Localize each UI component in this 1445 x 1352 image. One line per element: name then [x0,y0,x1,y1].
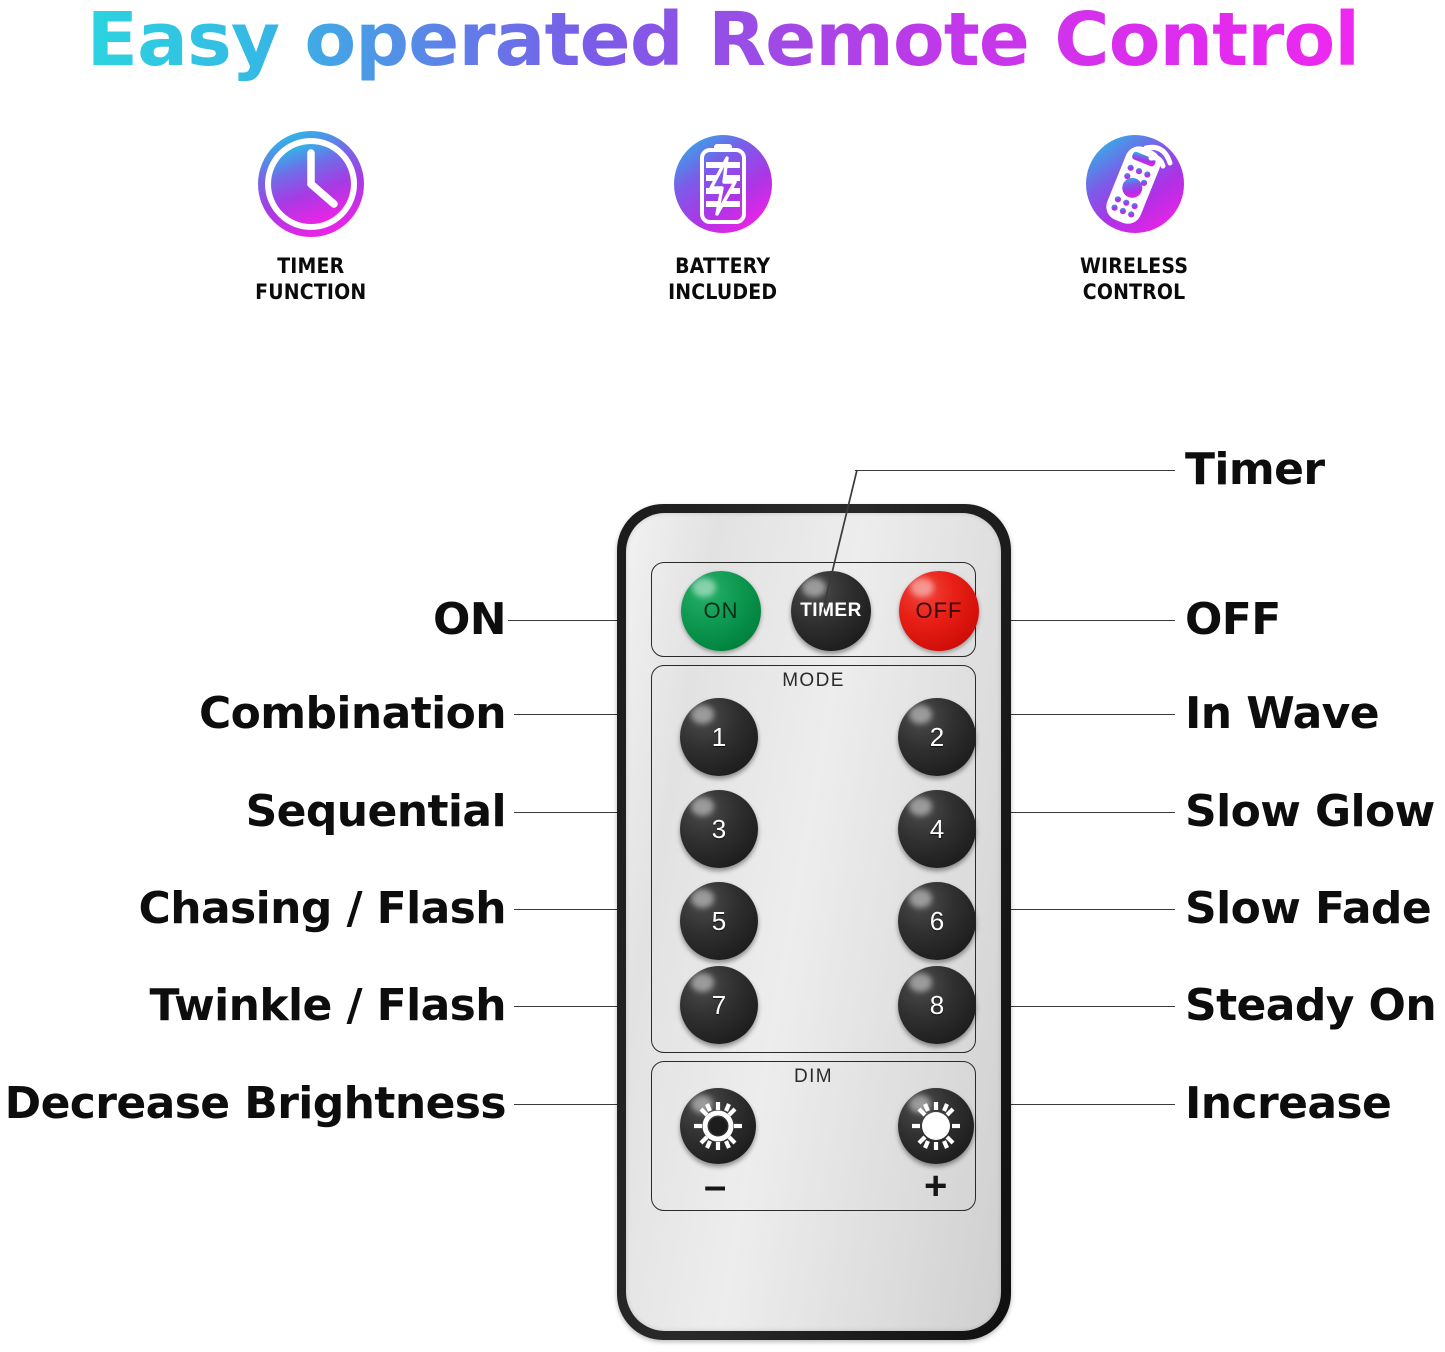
mode-button-6[interactable]: 6 [898,882,976,960]
mode-button-3[interactable]: 3 [680,790,758,868]
mode-button-7[interactable]: 7 [680,966,758,1044]
off-button[interactable]: OFF [899,571,979,651]
feature-label-line2: CONTROL [1083,280,1186,304]
decrease-brightness-button[interactable] [680,1088,756,1164]
feature-badges: TIMER FUNCTION [0,128,1445,318]
callout-in-wave: In Wave [1185,692,1379,736]
leader-line-timer-horizontal [855,470,1175,471]
feature-label-line2: INCLUDED [668,280,777,304]
callout-chasing-flash: Chasing / Flash [0,887,506,931]
callout-slow-glow: Slow Glow [1185,790,1435,834]
feature-label-line1: TIMER [277,254,344,278]
mode-panel-title: MODE [652,670,975,692]
mode-button-label: 1 [712,722,726,753]
leader-line-timer-diagonal [820,468,880,620]
dim-plus-sign: + [924,1166,947,1206]
increase-brightness-button[interactable] [898,1088,974,1164]
on-button-label: ON [704,598,739,624]
dim-panel-title: DIM [652,1066,975,1088]
remote-face: ON TIMER OFF MODE 1 2 3 4 5 6 [626,513,1001,1331]
callout-increase: Increase [1185,1082,1391,1126]
mode-button-2[interactable]: 2 [898,698,976,776]
title-bar: Easy operated Remote Control [0,0,1445,86]
on-button[interactable]: ON [681,571,761,651]
callout-twinkle-flash: Twinkle / Flash [0,984,506,1028]
clock-icon [255,128,367,240]
dim-minus-sign: – [704,1166,726,1206]
mode-button-5[interactable]: 5 [680,882,758,960]
mode-button-label: 7 [712,990,726,1021]
mode-button-label: 2 [930,722,944,753]
sun-bright-icon [909,1099,963,1153]
mode-button-4[interactable]: 4 [898,790,976,868]
callout-off: OFF [1185,598,1281,642]
mode-button-label: 4 [930,814,944,845]
power-panel: ON TIMER OFF [651,562,976,657]
sun-dim-icon [691,1099,745,1153]
battery-charging-icon [667,128,779,240]
page-title: Easy operated Remote Control [86,0,1359,83]
callout-combination: Combination [0,692,506,736]
feature-battery-included: BATTERY INCLUDED [608,128,838,305]
remote-signal-icon [1079,128,1191,240]
mode-button-1[interactable]: 1 [680,698,758,776]
feature-label-line1: BATTERY [675,254,770,278]
callout-timer: Timer [1185,448,1325,492]
feature-label: TIMER FUNCTION [255,254,366,305]
feature-label: WIRELESS CONTROL [1080,254,1188,305]
dim-panel: DIM [651,1061,976,1211]
mode-panel: MODE 1 2 3 4 5 6 7 8 [651,665,976,1053]
mode-button-label: 3 [712,814,726,845]
callout-sequential: Sequential [0,790,506,834]
remote-control-device: ON TIMER OFF MODE 1 2 3 4 5 6 [617,504,1011,1340]
mode-button-label: 5 [712,906,726,937]
feature-label-line1: WIRELESS [1080,254,1188,278]
mode-button-label: 8 [930,990,944,1021]
callout-slow-fade: Slow Fade [1185,887,1431,931]
feature-wireless-control: WIRELESS CONTROL [1020,128,1250,305]
mode-button-8[interactable]: 8 [898,966,976,1044]
mode-button-label: 6 [930,906,944,937]
off-button-label: OFF [916,598,963,624]
feature-timer-function: TIMER FUNCTION [196,128,426,305]
callout-decrease-brightness: Decrease Brightness [0,1082,506,1126]
callout-on: ON [0,598,506,642]
callout-steady-on: Steady On [1185,984,1436,1028]
feature-label: BATTERY INCLUDED [668,254,777,305]
feature-label-line2: FUNCTION [255,280,366,304]
